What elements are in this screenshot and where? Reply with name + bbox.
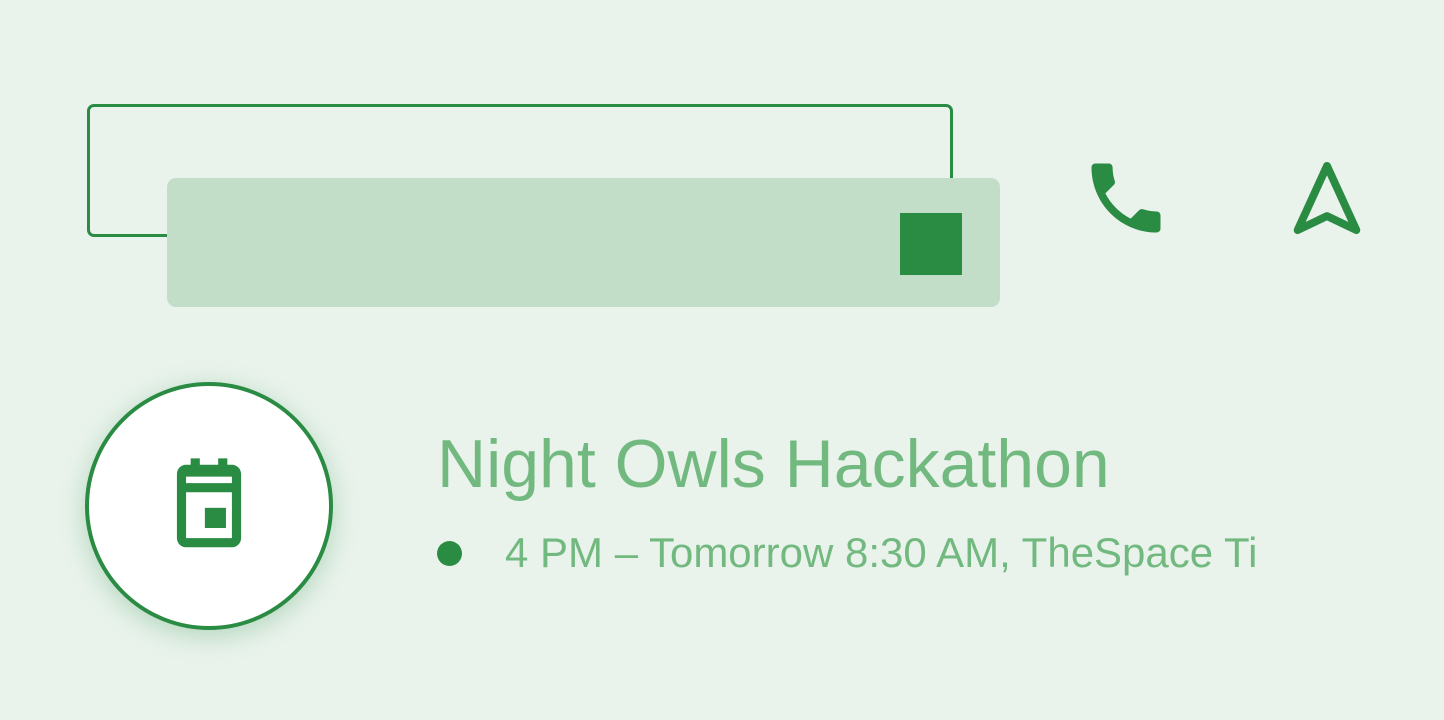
phone-icon — [1080, 148, 1172, 248]
destination-marker — [900, 213, 962, 275]
status-dot-icon — [437, 541, 462, 566]
event-avatar — [85, 382, 333, 630]
call-button[interactable] — [1080, 148, 1172, 248]
event-subline: 4 PM – Tomorrow 8:30 AM, TheSpace Ti — [437, 524, 1444, 582]
app-root: Night Owls Hackathon 4 PM – Tomorrow 8:3… — [0, 0, 1444, 720]
route-progress-panel — [167, 178, 1000, 307]
navigation-arrow-icon — [1286, 148, 1368, 248]
event-title: Night Owls Hackathon — [437, 425, 1110, 503]
directions-button[interactable] — [1286, 148, 1368, 248]
event-time-location: 4 PM – Tomorrow 8:30 AM, TheSpace Ti — [505, 524, 1257, 582]
calendar-icon — [154, 451, 264, 561]
